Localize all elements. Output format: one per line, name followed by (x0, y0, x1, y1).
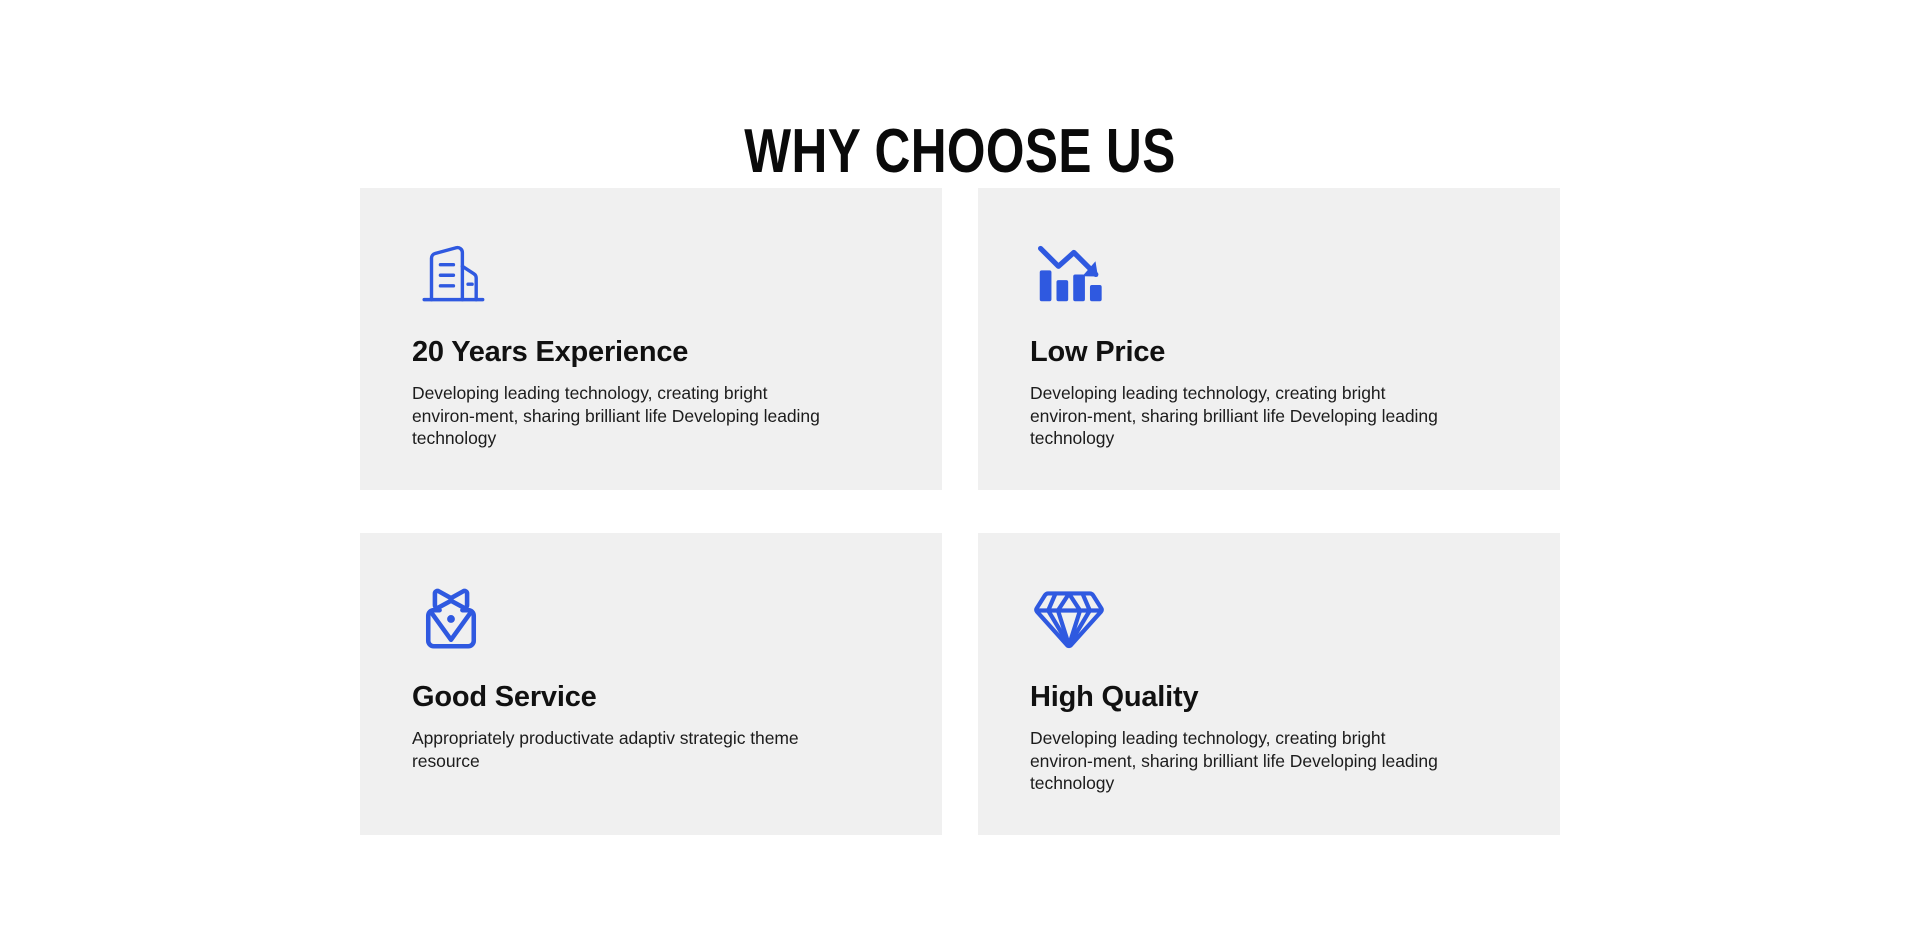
feature-card-title: 20 Years Experience (412, 335, 890, 369)
bow-tie-suit-icon (412, 578, 490, 656)
page-title: WHY CHOOSE US (192, 120, 1728, 184)
feature-card-description: Developing leading technology, creating … (412, 382, 832, 450)
feature-card-grid: 20 Years Experience Developing leading t… (360, 188, 1560, 835)
feature-card-title: Good Service (412, 680, 890, 714)
feature-card-title: High Quality (1030, 680, 1508, 714)
feature-card-description: Developing leading technology, creating … (1030, 382, 1450, 450)
feature-card-title: Low Price (1030, 335, 1508, 369)
feature-card-description: Appropriately productivate adaptiv strat… (412, 727, 832, 772)
why-choose-us-section: WHY CHOOSE US 20 Years Experience Develo… (0, 0, 1920, 930)
feature-card-high-quality[interactable]: High Quality Developing leading technolo… (978, 533, 1560, 835)
feature-card-low-price[interactable]: Low Price Developing leading technology,… (978, 188, 1560, 490)
feature-card-20-years-experience[interactable]: 20 Years Experience Developing leading t… (360, 188, 942, 490)
office-building-icon (412, 233, 490, 311)
diamond-icon (1030, 578, 1108, 656)
feature-card-description: Developing leading technology, creating … (1030, 727, 1450, 795)
declining-bar-chart-icon (1030, 233, 1108, 311)
feature-card-good-service[interactable]: Good Service Appropriately productivate … (360, 533, 942, 835)
